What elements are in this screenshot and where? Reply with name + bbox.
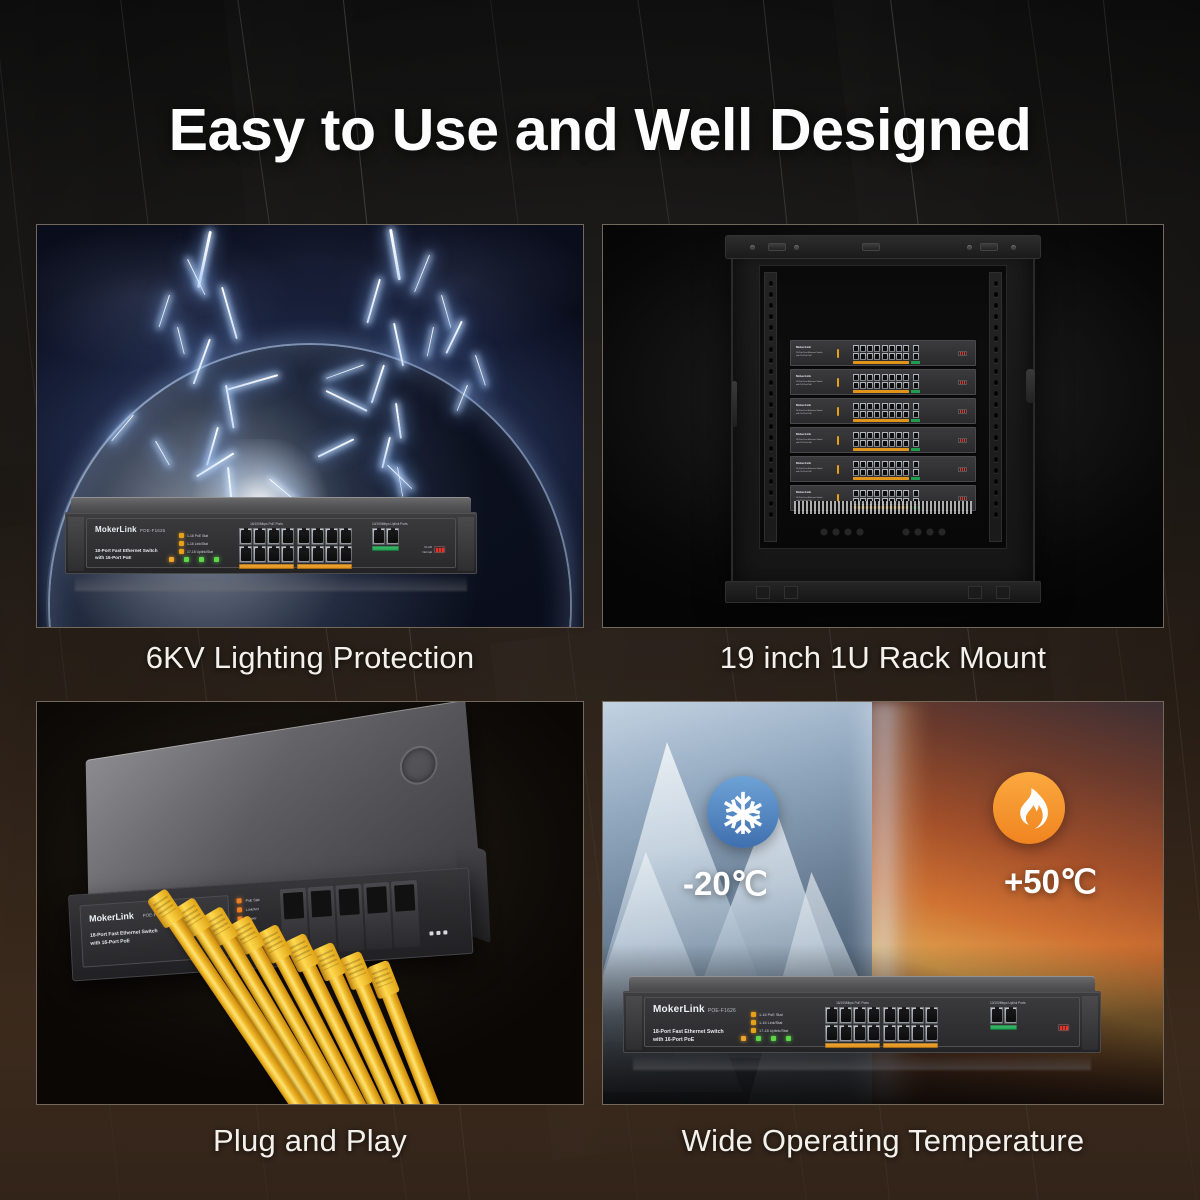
rj45-port [874, 403, 880, 410]
rail-hole [994, 512, 998, 517]
caption-plug-and-play: Plug and Play [36, 1111, 584, 1171]
rail-hole [994, 336, 998, 341]
rail-hole [769, 457, 773, 462]
poe-port-bank: 16/100Mbps PoE Ports [239, 528, 352, 569]
rack-top-bracket [768, 243, 786, 251]
rack-door-hinge[interactable] [1026, 369, 1035, 403]
rack-ear-right [1082, 996, 1098, 1050]
rack-screw [750, 245, 755, 250]
switch-description: 18-Port Fast Ethernet Switchwith 16-Port… [796, 352, 823, 358]
temperature-photo: -20℃ +50℃ Moke [602, 701, 1164, 1105]
rj45-port [853, 432, 859, 439]
switch-description: 18-Port Fast Ethernet Switch with 16-Por… [653, 1028, 724, 1044]
rj45-uplink-port [990, 1007, 1003, 1024]
rj45-connector-boot [146, 888, 184, 929]
legend-led-icon [179, 533, 184, 538]
status-led [199, 557, 204, 562]
switch-description: 18-Port Fast Ethernet Switchwith 16-Port… [796, 468, 823, 474]
caption-lightning: 6KV Lighting Protection [36, 628, 584, 688]
rj45-port [339, 546, 352, 563]
rail-hole [994, 303, 998, 308]
rack-mounted-switch: MokerLink18-Port Fast Ethernet Switchwit… [790, 340, 976, 366]
rj45-port [897, 1025, 910, 1042]
rack-foot [996, 586, 1010, 599]
rj45-uplink-port [913, 382, 919, 389]
rj45-port [874, 469, 880, 476]
switch-description: 18-Port Fast Ethernet Switchwith 16-Port… [796, 439, 823, 445]
poe-port-group: 16/100Mbps PoE Ports [825, 1007, 880, 1048]
uplink-label-strip [990, 1025, 1017, 1030]
rack-screw [1011, 245, 1016, 250]
rj45-port [867, 469, 873, 476]
rj45-port [889, 345, 895, 352]
status-led-row [741, 1036, 791, 1041]
rj45-port [853, 461, 859, 468]
rj45-port [311, 528, 324, 545]
legend-led-icon [837, 407, 839, 416]
rj45-port [882, 345, 888, 352]
rj45-port [874, 382, 880, 389]
rj45-port [896, 374, 902, 381]
dip-switch: VLAN Normal [422, 545, 445, 554]
rj45-port [896, 345, 902, 352]
rail-hole [769, 391, 773, 396]
legend-label: 17-18 Uplink/Stat [759, 1029, 788, 1033]
rj45-port [882, 411, 888, 418]
poe-port-bank: 16/100Mbps PoE Ports [825, 1007, 938, 1048]
rj45-port [903, 345, 909, 352]
rack-screw [794, 245, 799, 250]
uplink-label-strip [911, 477, 920, 480]
switch-description: 18-Port Fast Ethernet Switchwith 16-Port… [796, 381, 823, 387]
uplink-port-grid [913, 403, 919, 418]
rack-mounted-switch: MokerLink18-Port Fast Ethernet Switchwit… [790, 369, 976, 395]
rail-hole [769, 468, 773, 473]
rack-interior: MokerLink18-Port Fast Ethernet Switchwit… [759, 265, 1007, 549]
rack-screw [967, 245, 972, 250]
poe-label-strip [853, 361, 909, 364]
uplink-label-strip [911, 390, 920, 393]
poe-label-strip [853, 477, 909, 480]
rj45-port [874, 345, 880, 352]
rj45-port [882, 403, 888, 410]
legend-row: 1-16 PoE Stat [751, 1012, 788, 1017]
dip-led [1060, 1026, 1062, 1030]
rj45-port [874, 490, 880, 497]
dip-switch-block [958, 409, 967, 414]
rj45-uplink-port [913, 461, 919, 468]
rail-hole [994, 413, 998, 418]
rail-hole [769, 413, 773, 418]
rj45-port [311, 546, 324, 563]
rail-hole [994, 435, 998, 440]
legend-row: 1-16 Link/Stat [751, 1020, 788, 1025]
switch-device-lightning: MokerLink POE-F1626 18-Port Fast Etherne… [65, 497, 477, 591]
poe-label-strip [297, 564, 352, 569]
status-led [214, 557, 219, 562]
uplink-label-strip [911, 361, 920, 364]
rack-photo: MokerLink18-Port Fast Ethernet Switchwit… [602, 224, 1164, 628]
port-grid [853, 345, 880, 360]
rj45-port [281, 528, 294, 545]
rj45-uplink-port [913, 353, 919, 360]
rj45-port [860, 353, 866, 360]
switch-chassis-top [629, 976, 1095, 991]
port-grid [853, 432, 880, 447]
rj45-port [882, 469, 888, 476]
switch-front-face: MokerLink POE-F1626 18-Port Fast Etherne… [623, 991, 1101, 1053]
rj45-port [853, 440, 859, 447]
rj45-port [897, 1007, 910, 1024]
port-grid [825, 1007, 880, 1042]
legend-row: 1-16 PoE Stat [179, 533, 213, 538]
uplink-port-grid [913, 432, 919, 447]
flame-icon [1007, 786, 1051, 830]
rack-top-bracket [862, 243, 880, 251]
poe-label-strip [883, 1043, 938, 1048]
rail-hole [994, 424, 998, 429]
rj45-port [325, 546, 338, 563]
rj45-port [860, 469, 866, 476]
rj45-port [867, 382, 873, 389]
brand-logo-text: MokerLink [653, 1005, 705, 1015]
rj45-port [911, 1007, 924, 1024]
rail-hole [769, 479, 773, 484]
dip-led [1063, 1026, 1065, 1030]
poe-port-group [883, 1007, 938, 1048]
rj45-uplink-port [913, 374, 919, 381]
port-group-label: 16/100Mbps PoE Ports [825, 1001, 880, 1005]
switch-description-line1: 18-Port Fast Ethernet Switch [95, 547, 158, 554]
rail-hole [994, 446, 998, 451]
plug-and-play-photo: MokerLink POE-F1626 18-Port Fast Etherne… [36, 701, 584, 1105]
port-grid [853, 461, 880, 476]
uplink-port-grid [913, 374, 919, 389]
rack-foot [968, 586, 982, 599]
legend-label: 17-18 Uplink/Stat [187, 550, 213, 554]
legend-led-icon [837, 349, 839, 358]
rj45-port [896, 382, 902, 389]
dip-led [1066, 1026, 1068, 1030]
rail-hole [994, 501, 998, 506]
switch-description-line1: 18-Port Fast Ethernet Switch [653, 1028, 724, 1036]
rj45-port-bank [853, 432, 919, 447]
rj45-port [883, 1025, 896, 1042]
switch-description-line2: with 16-Port PoE [95, 554, 158, 561]
rj45-uplink-port [913, 432, 919, 439]
rack-mounted-switch: MokerLink18-Port Fast Ethernet Switchwit… [790, 427, 976, 453]
rj45-port [860, 411, 866, 418]
power-led [741, 1036, 746, 1041]
rail-hole [769, 512, 773, 517]
rack-base-panel [725, 581, 1041, 603]
legend-row: 1-16 Link/Stat [179, 541, 213, 546]
rack-top-panel [725, 235, 1041, 259]
rj45-port [874, 411, 880, 418]
port-grid [882, 374, 909, 389]
legend-led-icon [837, 436, 839, 445]
rack-fan-plate [760, 520, 1006, 542]
legend-led-icon [751, 1012, 756, 1017]
rj45-port [860, 374, 866, 381]
led-legend: 1-16 PoE Stat 1-16 Link/Stat 17-18 Uplin… [179, 533, 213, 557]
mounting-rail-right [989, 272, 1002, 542]
rail-hole [994, 391, 998, 396]
rail-hole [994, 369, 998, 374]
rj45-port [903, 382, 909, 389]
switch-faceplate: MokerLink POE-F1626 18-Port Fast Etherne… [644, 997, 1080, 1047]
rj45-port [867, 374, 873, 381]
switch-chassis-top [71, 497, 471, 512]
switch-front-face: MokerLink POE-F1626 18-Port Fast Etherne… [65, 512, 477, 574]
feature-grid: MokerLink POE-F1626 18-Port Fast Etherne… [36, 224, 1164, 1164]
legend-led-icon [837, 378, 839, 387]
rj45-port [903, 469, 909, 476]
rj45-port [874, 440, 880, 447]
rail-hole [769, 490, 773, 495]
rj45-port [825, 1025, 838, 1042]
rail-hole [769, 369, 773, 374]
rack-ear-left [68, 517, 84, 571]
rj45-port [903, 374, 909, 381]
legend-led-icon [837, 465, 839, 474]
rj45-port [325, 528, 338, 545]
rj45-port [903, 432, 909, 439]
rj45-port [903, 490, 909, 497]
legend-label: 1-16 Link/Stat [187, 542, 208, 546]
uplink-label: 10/100Mbps Uplink Ports [990, 1001, 1017, 1005]
rj45-port [889, 432, 895, 439]
rj45-port [297, 528, 310, 545]
feature-card-temperature: -20℃ +50℃ Moke [602, 701, 1164, 1105]
rail-hole [994, 292, 998, 297]
feature-card-lightning: MokerLink POE-F1626 18-Port Fast Etherne… [36, 224, 584, 628]
power-led [169, 557, 174, 562]
rj45-uplink-port [913, 469, 919, 476]
switch-reflection [75, 575, 467, 591]
switch-device-temperature: MokerLink POE-F1626 18-Port Fast Etherne… [623, 976, 1101, 1070]
feature-card-rack: MokerLink18-Port Fast Ethernet Switchwit… [602, 224, 1164, 628]
rj45-port [267, 528, 280, 545]
rj45-port-bank [853, 461, 919, 476]
dip-led [442, 548, 444, 552]
rj45-port [883, 1007, 896, 1024]
rack-top-bracket [980, 243, 998, 251]
legend-led-icon [179, 541, 184, 546]
rj45-port [896, 432, 902, 439]
uplink-label-strip [911, 448, 920, 451]
switch-brand: MokerLink POE-F1626 [95, 526, 165, 534]
status-led [184, 557, 189, 562]
rj45-port [874, 461, 880, 468]
rj45-uplink-port [913, 440, 919, 447]
rj45-port [860, 432, 866, 439]
dip-switch-block [1058, 1024, 1069, 1031]
rj45-port [874, 374, 880, 381]
rail-hole [994, 490, 998, 495]
rail-hole [994, 468, 998, 473]
rj45-port [874, 353, 880, 360]
rj45-port [853, 374, 859, 381]
rj45-port [896, 461, 902, 468]
rj45-port [267, 546, 280, 563]
rail-hole [994, 325, 998, 330]
rj45-port [896, 403, 902, 410]
rj45-port [903, 440, 909, 447]
lightning-photo: MokerLink POE-F1626 18-Port Fast Etherne… [36, 224, 584, 628]
rj45-port [896, 353, 902, 360]
dip-switch-block [958, 467, 967, 472]
port-grid [882, 432, 909, 447]
switch-description: 18-Port Fast Ethernet Switch with 16-Por… [95, 547, 158, 561]
port-grid [239, 528, 294, 563]
rj45-port [867, 353, 873, 360]
uplink-port-grid [913, 345, 919, 360]
uplink-port-bank: 10/100Mbps Uplink Ports [990, 1007, 1017, 1030]
status-led [771, 1036, 776, 1041]
rail-hole [769, 435, 773, 440]
uplink-port-grid [372, 528, 399, 545]
uplink-port-grid [913, 461, 919, 476]
rj45-port [867, 440, 873, 447]
rack-foot [756, 586, 770, 599]
rail-hole [994, 479, 998, 484]
poe-port-group [297, 528, 352, 569]
dip-switch-block [958, 438, 967, 443]
rj45-port [903, 461, 909, 468]
rail-hole [769, 446, 773, 451]
status-led [786, 1036, 791, 1041]
caption-rack: 19 inch 1U Rack Mount [602, 628, 1164, 688]
fan-vent [816, 524, 868, 540]
rail-hole [769, 424, 773, 429]
uplink-label-strip [911, 419, 920, 422]
port-grid [297, 528, 352, 563]
uplink-port-grid [990, 1007, 1017, 1024]
rj45-uplink-port [913, 411, 919, 418]
hot-badge [993, 772, 1065, 844]
rj45-port [860, 490, 866, 497]
rail-hole [769, 380, 773, 385]
rj45-port [853, 411, 859, 418]
rj45-uplink-port [913, 490, 919, 497]
dip-label: Normal [422, 550, 432, 554]
rail-hole [769, 501, 773, 506]
rj45-port [860, 345, 866, 352]
rj45-port [889, 403, 895, 410]
rj45-port [889, 382, 895, 389]
dip-switch-block [958, 351, 967, 356]
rj45-port [253, 546, 266, 563]
port-grid [853, 403, 880, 418]
uplink-port-bank: 10/100Mbps Uplink Ports [372, 528, 399, 551]
brand-logo-text: MokerLink [796, 403, 811, 407]
rj45-uplink-port [1004, 1007, 1017, 1024]
rj45-port [860, 403, 866, 410]
rj45-port [882, 461, 888, 468]
rj45-port [882, 382, 888, 389]
rack-foot [784, 586, 798, 599]
port-grid [882, 345, 909, 360]
rack-handle[interactable] [732, 381, 737, 427]
rj45-port [853, 403, 859, 410]
rj45-port [882, 440, 888, 447]
poe-port-group: 16/100Mbps PoE Ports [239, 528, 294, 569]
rail-hole [769, 303, 773, 308]
rj45-port [297, 546, 310, 563]
rail-hole [994, 314, 998, 319]
rack-mounted-switch: MokerLink18-Port Fast Ethernet Switchwit… [790, 398, 976, 424]
rj45-port [867, 403, 873, 410]
rj45-port [896, 490, 902, 497]
page-title: Easy to Use and Well Designed [0, 96, 1200, 164]
rail-hole [769, 336, 773, 341]
uplink-label-strip [372, 546, 399, 551]
rj45-port [839, 1007, 852, 1024]
rj45-port [867, 461, 873, 468]
legend-row: 17-18 Uplink/Stat [751, 1028, 788, 1033]
rj45-port [889, 374, 895, 381]
rj45-uplink-port [372, 528, 385, 545]
rj45-port-bank [853, 374, 919, 389]
rail-hole [994, 457, 998, 462]
dip-switch-block [434, 546, 445, 553]
port-grid [853, 374, 880, 389]
rj45-port [925, 1007, 938, 1024]
port-grid [882, 461, 909, 476]
switch-description: 18-Port Fast Ethernet Switchwith 16-Port… [796, 410, 823, 416]
brand-logo-text: MokerLink [95, 526, 137, 534]
dip-led [436, 548, 438, 552]
rail-hole [994, 402, 998, 407]
rj45-port [903, 411, 909, 418]
rj45-port [911, 1025, 924, 1042]
rj45-port [860, 440, 866, 447]
rack-ear-left [626, 996, 642, 1050]
rj45-port [889, 411, 895, 418]
rj45-port [874, 432, 880, 439]
rj45-port [882, 374, 888, 381]
dip-led [439, 548, 441, 552]
cold-temperature-label: -20℃ [683, 864, 768, 903]
rj45-uplink-port [913, 345, 919, 352]
rj45-port [860, 461, 866, 468]
rj45-port [253, 528, 266, 545]
rj45-port [853, 490, 859, 497]
rj45-port [867, 345, 873, 352]
rj45-port-bank [853, 403, 919, 418]
rj45-port [896, 411, 902, 418]
rail-hole [994, 380, 998, 385]
rj45-port [889, 469, 895, 476]
poe-label-strip [825, 1043, 880, 1048]
legend-led-icon [179, 549, 184, 554]
port-group-label: 16/100Mbps PoE Ports [239, 522, 294, 526]
switch-brand: MokerLink POE-F1626 [653, 1005, 736, 1015]
rj45-port [889, 353, 895, 360]
rack-cabinet: MokerLink18-Port Fast Ethernet Switchwit… [731, 247, 1035, 591]
rj45-port [825, 1007, 838, 1024]
led-legend: 1-16 PoE Stat 1-16 Link/Stat 17-18 Uplin… [751, 1012, 788, 1036]
switch-faceplate: MokerLink POE-F1626 18-Port Fast Etherne… [86, 518, 456, 568]
poe-label-strip [853, 390, 909, 393]
poe-label-strip [853, 448, 909, 451]
rj45-port [339, 528, 352, 545]
rail-hole [769, 292, 773, 297]
poe-label-strip [239, 564, 294, 569]
rail-hole [994, 281, 998, 286]
rj45-port [903, 353, 909, 360]
